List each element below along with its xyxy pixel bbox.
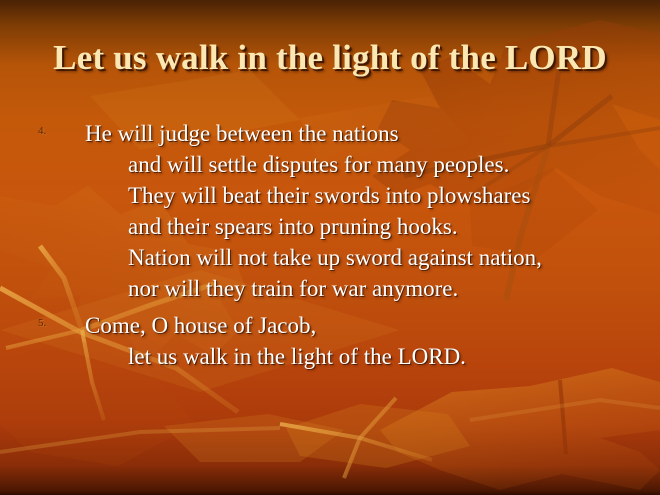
verse-line: and will settle disputes for many people… (85, 149, 660, 180)
list-item: 4. He will judge between the nations and… (0, 118, 660, 304)
list-item: 5. Come, O house of Jacob, let us walk i… (0, 310, 660, 372)
verse-lines: He will judge between the nations and wi… (85, 118, 660, 304)
content-placeholder: 4. He will judge between the nations and… (0, 118, 660, 372)
title-placeholder: Let us walk in the light of the LORD (0, 38, 660, 78)
presentation-slide: Let us walk in the light of the LORD 4. … (0, 0, 660, 495)
verse-lines: Come, O house of Jacob, let us walk in t… (85, 310, 660, 372)
verse-line: Nation will not take up sword against na… (85, 242, 660, 273)
verse-line: let us walk in the light of the LORD. (85, 341, 660, 372)
verse-line: They will beat their swords into plowsha… (85, 180, 660, 211)
maple-leaf-bottom-right-icon (0, 368, 660, 490)
verse-line: and their spears into pruning hooks. (85, 211, 660, 242)
list-marker: 5. (38, 318, 46, 329)
verse-line: nor will they train for war anymore. (85, 273, 660, 304)
verse-line: Come, O house of Jacob, (85, 310, 660, 341)
list-marker: 4. (38, 126, 46, 137)
verse-line: He will judge between the nations (85, 118, 660, 149)
page-title: Let us walk in the light of the LORD (53, 38, 607, 78)
